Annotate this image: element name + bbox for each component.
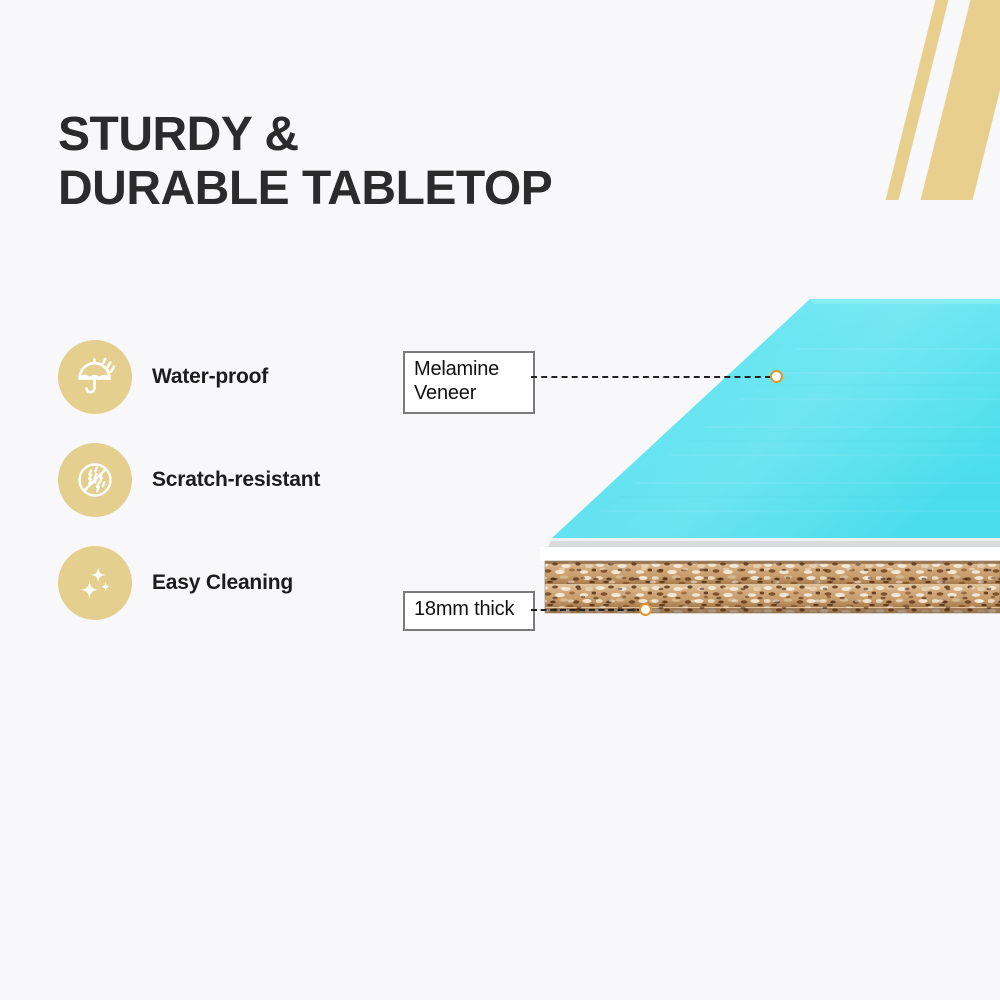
- veneer-edge-band: [548, 538, 1000, 547]
- wide-gold-stripe: [916, 0, 1000, 200]
- sparkles-icon: [72, 560, 118, 606]
- tabletop-cross-section: [540, 285, 1000, 635]
- umbrella-rain-icon: [72, 354, 118, 400]
- page-title: STURDY & DURABLE TABLETOP: [58, 108, 552, 216]
- marker-dot-melamine: [770, 370, 783, 383]
- no-scratch-icon: [72, 457, 118, 503]
- feature-item-easy-cleaning: Easy Cleaning: [58, 542, 388, 624]
- callout-melamine-veneer: Melamine Veneer: [403, 351, 535, 414]
- feature-label: Scratch-resistant: [152, 468, 320, 492]
- leader-line-thickness: [531, 609, 643, 611]
- feature-label: Easy Cleaning: [152, 571, 293, 595]
- feature-badge-water-proof: [58, 340, 132, 414]
- marker-dot-thickness: [639, 603, 652, 616]
- particleboard-layer: [545, 561, 1000, 613]
- corner-decoration: [840, 0, 1000, 200]
- white-core-layer: [540, 547, 1000, 561]
- feature-label: Water-proof: [152, 365, 268, 389]
- callout-board-thickness: 18mm thick: [403, 591, 535, 631]
- leader-line-melamine: [531, 376, 771, 378]
- feature-badge-easy-cleaning: [58, 546, 132, 620]
- feature-list: Water-proof Scratch-resistant: [58, 336, 388, 645]
- feature-item-water-proof: Water-proof: [58, 336, 388, 418]
- melamine-veneer-layer: [552, 299, 1000, 538]
- feature-badge-scratch-resistant: [58, 443, 132, 517]
- thin-gold-stripe: [881, 0, 959, 200]
- feature-item-scratch-resistant: Scratch-resistant: [58, 439, 388, 521]
